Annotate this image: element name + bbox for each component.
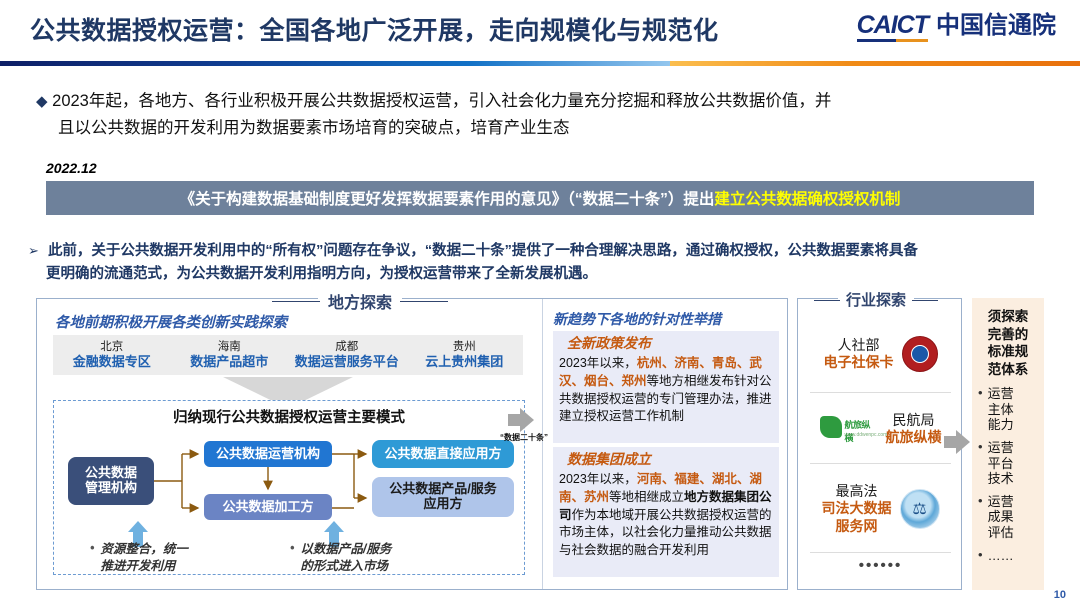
city-item-beijing: 北京 金融数据专区 <box>53 340 171 371</box>
industry-org: 最高法 <box>822 483 892 500</box>
caict-logo-latin: CAICT <box>857 13 928 42</box>
standards-list-item: • 运营 成果 评估 <box>978 494 1038 541</box>
arrow-bullet-icon: ➢ <box>28 243 39 258</box>
city-tag: 数据运营服务平台 <box>288 354 406 370</box>
standards-list-item: • …… <box>978 548 1038 564</box>
standards-arrow-icon <box>944 430 970 454</box>
city-tag: 云上贵州集团 <box>406 354 524 370</box>
card-mid: 等地相继成立 <box>609 490 684 504</box>
measure-card-body: 2023年以来，杭州、济南、青岛、武汉、烟台、郑州等地方相继发布针对公共数据授权… <box>553 355 779 432</box>
node-direct-user: 公共数据直接应用方 <box>372 440 514 468</box>
bullet-dot-icon: • <box>290 541 294 575</box>
industry-panel-title: 行业探索 <box>838 289 914 310</box>
node-data-operator: 公共数据运营机构 <box>204 441 332 467</box>
standards-title: 须探索 完善的 标准规 范体系 <box>978 308 1038 378</box>
down-funnel-arrow-icon <box>223 377 353 401</box>
bullet-dot-icon: • <box>978 440 983 487</box>
item-line3: 评估 <box>988 525 1014 540</box>
policy-banner-highlight: 建立公共数据确权授权机制 <box>714 191 900 208</box>
standards-column: 须探索 完善的 标准规 范体系 • 运营 主体 能力 • 运营 平台 技术 <box>972 298 1044 590</box>
diagram-note-2: • 以数据产品/服务 的形式进入市场 <box>290 541 510 575</box>
divider <box>810 463 951 464</box>
card-post: 作为本地域开展公共数据授权运营的市场主体，以社会化力量推动公共数据与社会数据的融… <box>559 508 772 558</box>
measure-card-title: 全新政策发布 <box>553 331 779 355</box>
city-tag: 数据产品超市 <box>171 354 289 370</box>
local-panel-title: 地方探索 <box>318 289 402 313</box>
node-data-processor: 公共数据加工方 <box>204 494 332 520</box>
industry-product: 航旅纵横 <box>886 429 942 446</box>
policy-banner: 《关于构建数据基础制度更好发挥数据要素作用的意见》（“数据二十条”）提出建立公共… <box>46 181 1034 215</box>
city-name: 成都 <box>288 340 406 354</box>
divider <box>810 392 951 393</box>
industry-product: 电子社保卡 <box>824 354 894 371</box>
caict-logo-chinese: 中国信通院 <box>936 14 1056 42</box>
industry-org: 人社部 <box>824 337 894 354</box>
card-pre: 2023年以来， <box>559 356 637 370</box>
item-line2: 主体 <box>988 402 1014 417</box>
analysis-bullet-line1: 此前，关于公共数据开发利用中的“所有权”问题存在争议，“数据二十条”提供了一种合… <box>48 243 918 259</box>
measure-card-policy: 全新政策发布 2023年以来，杭州、济南、青岛、武汉、烟台、郑州等地方相继发布针… <box>553 331 779 443</box>
policy-date-label: 2022.12 <box>46 160 97 176</box>
item-line3: 能力 <box>988 417 1014 432</box>
operation-model-diagram: 归纳现行公共数据授权运营主要模式 <box>53 400 525 575</box>
standards-list-item: • 运营 主体 能力 <box>978 386 1038 433</box>
measure-card-body: 2023年以来，河南、福建、湖北、湖南、苏州等地相继成立地方数据集团公司作为本地… <box>553 471 779 566</box>
item-line1: 运营 <box>988 386 1014 401</box>
airtravel-logo-icon: 航旅纵横www.ddwenpc.com <box>820 414 878 444</box>
city-name: 贵州 <box>406 340 524 354</box>
industry-more-indicator: •••••• <box>798 557 963 574</box>
node-line1: 公共数据产品/服务 <box>389 482 497 497</box>
industry-exploration-panel: 人社部 电子社保卡 航旅纵横www.ddwenpc.com 民航局 航旅纵横 最… <box>797 298 962 590</box>
industry-item-social-security: 人社部 电子社保卡 <box>798 321 963 387</box>
social-security-card-icon <box>902 336 938 372</box>
analysis-bullet: ➢ 此前，关于公共数据开发利用中的“所有权”问题存在争议，“数据二十条”提供了一… <box>28 240 1053 286</box>
standards-title-line2: 完善的 <box>978 326 1038 344</box>
standards-title-line1: 须探索 <box>978 308 1038 326</box>
local-exploration-panel: 各地前期积极开展各类创新实践探索 北京 金融数据专区 海南 数据产品超市 成都 … <box>36 298 788 590</box>
diagram-notes: • 资源整合，统一 推进开发利用 • 以数据产品/服务 的形式进入市场 <box>72 541 512 575</box>
transition-arrow-label: “数据二十条” <box>500 432 548 443</box>
node-line2: 应用方 <box>389 497 497 512</box>
item-line1: …… <box>988 548 1014 564</box>
bullet-dot-icon: • <box>978 386 983 433</box>
industry-item-civil-aviation: 航旅纵横www.ddwenpc.com 民航局 航旅纵横 <box>798 399 963 459</box>
industry-product-line1: 司法大数据 <box>822 500 892 517</box>
city-tag: 金融数据专区 <box>53 354 171 370</box>
bullet-dot-icon: • <box>978 548 983 564</box>
node-product-service-user: 公共数据产品/服务 应用方 <box>372 477 514 517</box>
page-number: 10 <box>1054 589 1066 601</box>
city-item-guizhou: 贵州 云上贵州集团 <box>406 340 524 371</box>
policy-banner-main: 《关于构建数据基础制度更好发挥数据要素作用的意见》（“数据二十条”）提出 <box>180 191 715 208</box>
note-line2: 的形式进入市场 <box>300 559 388 573</box>
logo-underline <box>857 39 928 42</box>
note-line1: 资源整合，统一 <box>100 542 188 556</box>
city-strip: 北京 金融数据专区 海南 数据产品超市 成都 数据运营服务平台 贵州 云上贵州集… <box>53 335 523 375</box>
item-line3: 技术 <box>988 471 1014 486</box>
measure-card-title: 数据集团成立 <box>553 447 779 471</box>
card-pre: 2023年以来， <box>559 472 637 486</box>
bullet-dot-icon: • <box>978 494 983 541</box>
standards-list-item: • 运营 平台 技术 <box>978 440 1038 487</box>
measures-head: 新趋势下各地的针对性举措 <box>553 309 721 329</box>
node-line2: 管理机构 <box>85 481 137 496</box>
intro-bullet: ◆ 2023年起，各地方、各行业积极开展公共数据授权运营，引入社会化力量充分挖掘… <box>36 88 1046 142</box>
item-line2: 成果 <box>988 509 1014 524</box>
standards-title-line3: 标准规 <box>978 343 1038 361</box>
standards-title-line4: 范体系 <box>978 361 1038 379</box>
court-emblem-icon <box>900 489 940 529</box>
local-subhead: 各地前期积极开展各类创新实践探索 <box>55 311 287 332</box>
policy-banner-text: 《关于构建数据基础制度更好发挥数据要素作用的意见》（“数据二十条”）提出建立公共… <box>180 187 901 209</box>
diamond-bullet-icon: ◆ <box>36 93 48 110</box>
divider <box>810 552 951 553</box>
item-line2: 平台 <box>988 456 1014 471</box>
node-line1: 公共数据 <box>85 466 137 481</box>
node-data-management-authority: 公共数据 管理机构 <box>68 457 154 505</box>
local-measures-column: 新趋势下各地的针对性举措 全新政策发布 2023年以来，杭州、济南、青岛、武汉、… <box>542 299 788 589</box>
measure-card-group: 数据集团成立 2023年以来，河南、福建、湖北、湖南、苏州等地相继成立地方数据集… <box>553 447 779 577</box>
item-line1: 运营 <box>988 494 1014 509</box>
diagram-note-1: • 资源整合，统一 推进开发利用 <box>90 541 290 575</box>
intro-bullet-line2: 且以公共数据的开发利用为数据要素市场培育的突破点，培育产业生态 <box>36 115 1046 142</box>
industry-item-supreme-court: 最高法 司法大数据 服务网 <box>798 469 963 549</box>
analysis-bullet-line2: 更明确的流通范式，为公共数据开发利用指明方向，为授权运营带来了全新发展机遇。 <box>28 263 1053 286</box>
page-title: 公共数据授权运营：全国各地广泛开展，走向规模化与规范化 <box>30 11 719 47</box>
city-item-hainan: 海南 数据产品超市 <box>171 340 289 371</box>
bullet-dot-icon: • <box>90 541 94 575</box>
local-left-column: 各地前期积极开展各类创新实践探索 北京 金融数据专区 海南 数据产品超市 成都 … <box>37 299 542 589</box>
item-line1: 运营 <box>988 440 1014 455</box>
industry-org: 民航局 <box>886 412 942 429</box>
transition-arrow-icon <box>508 408 534 432</box>
city-name: 海南 <box>171 340 289 354</box>
industry-product-line2: 服务网 <box>822 518 892 535</box>
city-item-chengdu: 成都 数据运营服务平台 <box>288 340 406 371</box>
city-name: 北京 <box>53 340 171 354</box>
slide-root: 公共数据授权运营：全国各地广泛开展，走向规模化与规范化 CAICT 中国信通院 … <box>0 0 1080 607</box>
note-line2: 推进开发利用 <box>100 559 175 573</box>
slide-header: 公共数据授权运营：全国各地广泛开展，走向规模化与规范化 CAICT 中国信通院 <box>0 0 1080 58</box>
intro-bullet-line1: 2023年起，各地方、各行业积极开展公共数据授权运营，引入社会化力量充分挖掘和释… <box>52 92 831 110</box>
caict-logo: CAICT 中国信通院 <box>857 13 1056 42</box>
standards-list: • 运营 主体 能力 • 运营 平台 技术 • 运营 成果 <box>978 386 1038 563</box>
header-divider <box>0 61 1080 66</box>
note-line1: 以数据产品/服务 <box>300 542 391 556</box>
